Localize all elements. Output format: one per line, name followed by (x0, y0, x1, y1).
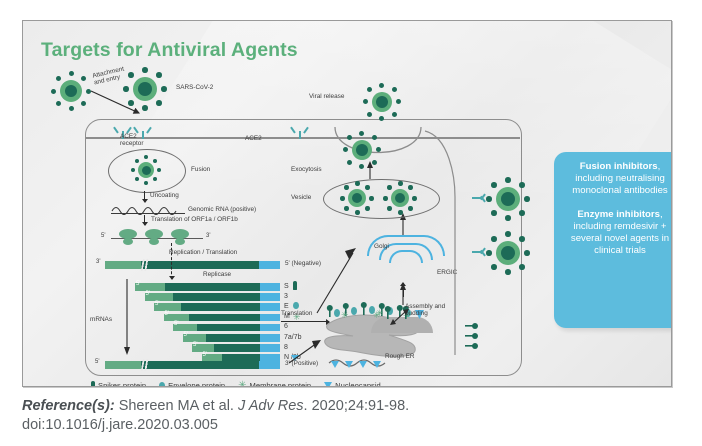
virus-core (142, 166, 151, 175)
spike-icon (81, 76, 86, 81)
spike-icon (69, 106, 74, 111)
callout-fusion-title: Fusion inhibitors (580, 161, 658, 172)
virus-core (501, 192, 515, 206)
spike-icon (519, 264, 525, 270)
label-five-prime-pos: 5' (95, 359, 99, 365)
rna-segment-blue (260, 293, 280, 301)
spike-icon (156, 100, 162, 106)
label-ace2: ACE2 (245, 135, 262, 142)
spike-icon (355, 181, 360, 186)
label-viral-release: Viral release (309, 93, 344, 100)
rna-segment-dark (141, 261, 259, 269)
strand-break-mark (136, 359, 152, 371)
legend-label: Nucleocapsid (335, 381, 381, 387)
rna-segment-dark (181, 303, 260, 311)
nucleocapsid-icon (324, 382, 332, 387)
mrnas-bracket-arrow (123, 279, 135, 359)
reference: Reference(s): Shereen MA et al. J Adv Re… (22, 397, 682, 436)
rna-segment-blue (260, 314, 280, 322)
spike-icon (365, 206, 370, 211)
rna-segment-dark (189, 314, 260, 322)
spike-icon (142, 67, 148, 73)
spike-icon (505, 177, 511, 183)
spike-icon (340, 196, 345, 201)
label-sars-cov-2: SARS-CoV-2 (176, 84, 213, 91)
virus-core (356, 144, 368, 156)
spike-icon (372, 160, 377, 165)
spike-icon (359, 131, 364, 136)
spike-icon (524, 250, 530, 256)
label-ace2-receptor: ACE2receptor (120, 133, 143, 148)
spike-icon (519, 182, 525, 188)
spike-icon (144, 155, 148, 159)
mrna-bar (173, 324, 280, 332)
envelope-protein-icon (159, 382, 165, 387)
spike-icon (367, 87, 372, 92)
mrna-gene-label: 6 (284, 323, 288, 331)
spike-icon (153, 159, 157, 163)
spike-icon (519, 236, 525, 242)
genomic-rna-baseline (111, 213, 185, 214)
spike-icon (343, 147, 348, 152)
legend: Spikes protein Envelope protein ✳ Membra… (91, 381, 511, 387)
rna-segment-blue (260, 324, 280, 332)
label-exocytosis: Exocytosis (291, 166, 322, 173)
rna-segment-dark (197, 324, 260, 332)
legend-label: Membrane protein (250, 381, 312, 387)
mrna-five-prime-label: 5' (193, 342, 197, 348)
spike-icon (135, 159, 139, 163)
reference-authors: Shereen MA et al. (115, 398, 238, 414)
mrna-bar (145, 293, 281, 301)
spike-icon (524, 196, 530, 202)
spike-icon (376, 147, 381, 152)
spike-icon (398, 210, 403, 215)
mrna-gene-label: 3 (284, 293, 288, 301)
reference-doi: doi:10.1016/j.jare.2020.03.005 (22, 417, 218, 433)
legend-item-envelope: Envelope protein (159, 381, 225, 387)
callout-enzyme: Enzyme inhibitors, including remdesivir … (562, 209, 672, 258)
rna-segment-blue (260, 303, 280, 311)
mrna-bar (164, 314, 281, 322)
spike-icon (365, 185, 370, 190)
mrna-five-prime-label: 5' (174, 321, 178, 327)
spike-icon (156, 72, 162, 78)
spike-icon (396, 99, 401, 104)
uncoating-arrow (144, 191, 145, 202)
mrna-five-prime-label: 5' (184, 332, 188, 338)
label-three-prime: 3' (206, 233, 210, 239)
label-fusion: Fusion (191, 166, 210, 173)
label-uncoating: Uncoating (150, 192, 179, 199)
legend-label: Envelope protein (168, 381, 225, 387)
rna-segment-dark (165, 283, 260, 291)
er-to-golgi-arrow (313, 247, 361, 317)
virus-core (501, 246, 515, 260)
spike-icon (505, 231, 511, 237)
spike-icon (56, 76, 61, 81)
ribosome-icon (149, 238, 159, 245)
mrna-five-prime-label: 5' (165, 311, 169, 317)
spike-icon (505, 269, 511, 275)
mrna-five-prime-label: 5' (155, 301, 159, 307)
envelope-protein-icon (293, 302, 299, 309)
spike-icon (144, 181, 148, 185)
mrna-bar (154, 303, 280, 311)
spike-icon (347, 160, 352, 165)
virus-particle-endosome (131, 155, 161, 185)
spike-icon (131, 168, 135, 172)
spike-icon (387, 185, 392, 190)
ribosome-icon (123, 238, 133, 245)
reference-heading: Reference(s): (22, 398, 115, 414)
spike-icon (372, 135, 377, 140)
spike-icon (69, 71, 74, 76)
spike-icon (392, 112, 397, 117)
label-three-prime-neg: 3' (96, 259, 100, 265)
spike-icon (379, 116, 384, 121)
spike-icon (398, 181, 403, 186)
virus-particle-released (363, 83, 401, 121)
spike-icon (344, 185, 349, 190)
label-translation: Translation (281, 310, 312, 317)
label-golgi: Golgi (374, 243, 389, 250)
label-replicase: Replicase (203, 271, 231, 278)
reference-citation: . 2020;24:91-98. (304, 398, 410, 414)
positive-strand-bar (105, 361, 280, 369)
label-mrnas: mRNAs (90, 316, 112, 323)
mrna-five-prime-label: 5' (203, 352, 207, 358)
strand-break-mark (136, 259, 152, 271)
label-replication-translation: Replication / Translation (169, 249, 237, 256)
virus-particle-releasing (343, 131, 381, 169)
virus-particle-vesicle-1 (340, 181, 374, 215)
legend-item-spikes: Spikes protein (91, 381, 146, 387)
ace2-receptor-icon (293, 125, 307, 139)
membrane-connectors (403, 117, 493, 367)
rna-segment-dark (214, 344, 260, 352)
spike-icon (153, 177, 157, 181)
spike-icon (363, 99, 368, 104)
label-translation-orf: Translation of ORF1a / ORF1b (151, 216, 238, 223)
virus-particle-free-1 (51, 71, 91, 111)
rna-segment-dark (173, 293, 260, 301)
mrna-bar (192, 344, 280, 352)
attachment-arrow (89, 87, 149, 121)
label-five-prime: 5' (101, 233, 105, 239)
mrna-five-prime-label: 5' (146, 291, 150, 297)
rna-segment-blue (260, 344, 280, 352)
callout-box: Fusion inhibitors, including neutralisin… (554, 152, 672, 328)
reference-journal: J Adv Res (238, 398, 304, 414)
virus-core (376, 96, 388, 108)
spike-icon (359, 164, 364, 169)
svg-text:✳: ✳ (373, 310, 381, 320)
spike-icon (519, 210, 525, 216)
rna-segment-dark (141, 361, 259, 369)
negative-strand-bar (105, 261, 280, 269)
diagram-panel: Targets for Antiviral Agents (22, 20, 672, 387)
virus-core (65, 85, 77, 97)
mrna-gene-label: S (284, 283, 289, 291)
slide-root: Targets for Antiviral Agents (0, 0, 702, 446)
spike-icon (51, 89, 56, 94)
rna-segment-blue (259, 261, 280, 269)
spike-icon (379, 83, 384, 88)
spike-icon (355, 210, 360, 215)
spike-icon (56, 101, 61, 106)
legend-item-membrane: ✳ Membrane protein (238, 381, 311, 387)
spikes-protein-icon (293, 281, 297, 290)
spikes-protein-icon (91, 381, 95, 387)
legend-label: Spikes protein (98, 381, 146, 387)
replicase-arrow (171, 243, 172, 279)
rna-segment-blue (260, 334, 280, 342)
callout-enzyme-title: Enzyme inhibitors (577, 209, 660, 220)
translation-orf-arrow (144, 215, 145, 225)
spike-icon (367, 112, 372, 117)
mrna-bar (183, 334, 281, 342)
ribosome-icon (175, 238, 185, 245)
label-vesicle: Vesicle (291, 194, 311, 201)
membrane-protein-icon: ✳ (238, 382, 246, 387)
rna-segment-blue (259, 361, 280, 369)
spike-icon (347, 135, 352, 140)
spike-icon (344, 206, 349, 211)
mrna-five-prime-label: 5' (136, 281, 140, 287)
rna-to-er-arrow (287, 339, 327, 367)
spike-icon (135, 177, 139, 181)
spike-icon (505, 215, 511, 221)
spike-icon (387, 206, 392, 211)
spike-icon (81, 101, 86, 106)
mrna-bar (135, 283, 280, 291)
rna-segment-blue (260, 283, 280, 291)
virus-core (352, 193, 362, 203)
label-genomic-rna: Genomic RNA (positive) (188, 206, 256, 213)
label-attachment-entry: Attachmentand entry (92, 66, 127, 88)
spike-icon (392, 87, 397, 92)
spike-icon (128, 72, 134, 78)
spike-icon (157, 168, 161, 172)
spike-icon (383, 196, 388, 201)
page-title: Targets for Antiviral Agents (41, 39, 298, 62)
legend-item-nucleocapsid: Nucleocapsid (324, 381, 381, 387)
rna-segment-dark (206, 334, 261, 342)
callout-fusion: Fusion inhibitors, including neutralisin… (562, 161, 672, 198)
spike-icon (161, 86, 167, 92)
spike-icon (369, 196, 374, 201)
